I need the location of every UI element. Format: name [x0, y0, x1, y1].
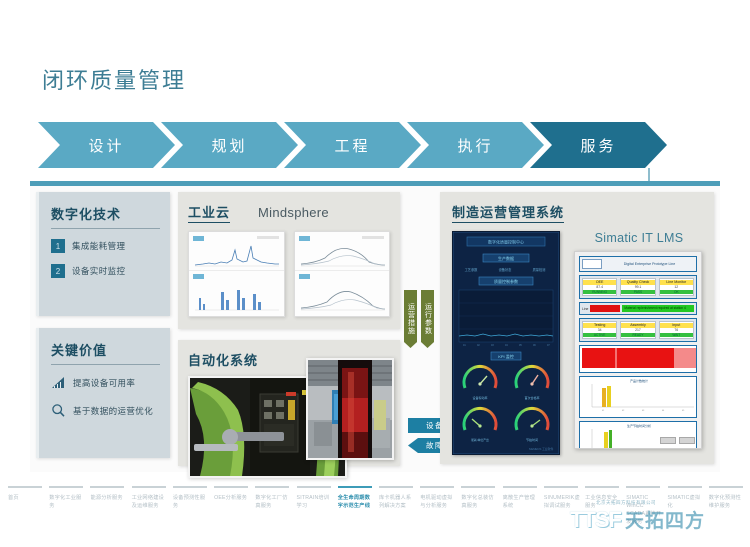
chevron-connector-stem [648, 168, 650, 182]
process-step-service[interactable]: 服务 [530, 122, 667, 168]
footer-label: OEE分析服务 [214, 494, 251, 502]
alarm-message: Material replenishment required at stati… [622, 305, 694, 312]
vertical-tag-operations[interactable]: 运营措施 [404, 290, 417, 348]
footer-label: SITRAIN培训学习 [297, 494, 334, 510]
footer-dash [255, 486, 289, 488]
footer-item-17[interactable]: 数字化预测性维护服务 [709, 486, 750, 526]
footer-item-7[interactable]: SITRAIN培训学习 [297, 486, 338, 526]
digital-technology-title: 数字化技术 [51, 204, 160, 229]
lms-button-right[interactable] [679, 437, 695, 444]
footer-dash [90, 486, 124, 488]
footer-label: 离散生产管理系统 [503, 494, 540, 510]
lms-kpi-row-1: OEE 87.4 RUNNING Quality Check 99.1 PASS [579, 275, 697, 299]
watermark-chinese: 天拓四方 [625, 506, 705, 533]
lms-alarm-row: Line Material replenishment required at … [579, 302, 697, 315]
footer-dash [8, 486, 42, 488]
process-step-label: 规划 [211, 135, 247, 156]
lms-kpi-testing[interactable]: Testing 34 ACTIVE [582, 321, 617, 339]
footer-item-9[interactable]: 库卡机器人系列解决方案 [379, 486, 420, 526]
svg-text:工艺参数: 工艺参数 [465, 267, 479, 272]
footer-dash [214, 486, 248, 488]
footer-item-5[interactable]: OEE分析服务 [214, 486, 255, 526]
lms-wrapper: Simatic IT LMS Digital Enterprise Protot… [574, 231, 704, 455]
kpi-status: PASS [621, 290, 654, 294]
footer-dash [297, 486, 331, 488]
footer-label: 数字化工业服务 [49, 494, 86, 510]
industrial-cloud-title: 工业云 [188, 202, 230, 223]
mindsphere-title: Mindsphere [258, 205, 329, 220]
footer-label: 能源分析服务 [90, 494, 127, 502]
lms-kpi-assembly[interactable]: Assembly 217 READY [620, 321, 655, 339]
footer-dash [668, 486, 702, 488]
footer-label: 数字化总装仿真服务 [461, 494, 498, 510]
kpi-status: READY [621, 333, 654, 337]
footer-label: 首页 [8, 494, 45, 502]
automation-system-card: 自动化系统 [178, 340, 400, 466]
footer-label: 设备预测性服务 [173, 494, 210, 510]
footer-dash [420, 486, 454, 488]
footer-dash [709, 486, 743, 488]
tech-item-2[interactable]: 2 设备实时监控 [51, 264, 160, 278]
watermark: TTSF 天拓四方 [570, 506, 705, 533]
footer-label: 数字化预测性维护服务 [709, 494, 746, 510]
svg-text:生产节拍时间分析: 生产节拍时间分析 [627, 423, 651, 428]
footer-item-3[interactable]: 工业网络建设及运维服务 [132, 486, 173, 526]
svg-text:质量检测: 质量检测 [533, 267, 546, 272]
value-item-label: 基于数据的运营优化 [73, 405, 153, 417]
footer-label: 工业网络建设及运维服务 [132, 494, 169, 510]
svg-text:生产数据: 生产数据 [498, 255, 514, 261]
tech-item-number: 1 [51, 239, 65, 253]
lms-button-left[interactable] [660, 437, 676, 444]
scada-dashboard[interactable]: 数字化质量控制中心 生产数据 工艺参数 设备状态 质量检测 质量控制参数 [452, 231, 560, 455]
process-step-planning[interactable]: 规划 [161, 122, 298, 168]
key-value-card: 关键价值 提高设备可用率 [36, 328, 170, 458]
kpi-status: RUNNING [583, 290, 616, 294]
footer-item-11[interactable]: 数字化总装仿真服务 [461, 486, 502, 526]
footer-dash [544, 486, 578, 488]
page-title: 闭环质量管理 [42, 63, 186, 95]
siemens-logo-chip [582, 259, 602, 269]
footer-item-4[interactable]: 设备预测性服务 [173, 486, 214, 526]
tech-item-label: 设备实时监控 [72, 265, 125, 277]
cloud-screenshots [188, 231, 390, 317]
production-count-chart[interactable]: 产品计数统计 010203 0405 [579, 376, 697, 418]
kpi-status: WAIT [660, 333, 693, 337]
footer-dash [173, 486, 207, 488]
kpi-status: ACTIVE [583, 333, 616, 337]
alarm-label: Line [582, 307, 588, 311]
svg-text:设备稼动率: 设备稼动率 [472, 395, 487, 400]
svg-text:首次合格率: 首次合格率 [524, 395, 539, 400]
industrial-cloud-dashboard-thumb[interactable] [188, 231, 285, 317]
process-step-engineering[interactable]: 工程 [284, 122, 421, 168]
lms-header-bar: Digital Enterprise Prototype Line [579, 256, 697, 272]
footer-item-10[interactable]: 电机驱动虚拟与分析服务 [420, 486, 461, 526]
tech-item-label: 集成能耗管理 [72, 240, 125, 252]
dashboard-logo-chip-2 [299, 274, 310, 279]
footer-dash [49, 486, 83, 488]
kpi-status: OK [660, 290, 693, 294]
process-chevron-bar: 设计 规划 工程 执行 服务 [38, 122, 653, 168]
digital-technology-card: 数字化技术 1 集成能耗管理 2 设备实时监控 [36, 192, 170, 316]
svg-text:能耗/单位产出: 能耗/单位产出 [471, 438, 489, 442]
lms-footer-controls [660, 437, 695, 444]
footer-dash [461, 486, 495, 488]
svg-text:节拍时间: 节拍时间 [526, 437, 538, 442]
footer-label: 库卡机器人系列解决方案 [379, 494, 416, 510]
svg-text:产品计数统计: 产品计数统计 [630, 378, 648, 383]
mes-card: 制造运营管理系统 数字化质量控制中心 [440, 192, 714, 464]
mindsphere-dashboard-thumb[interactable] [294, 231, 391, 317]
slide-canvas: 闭环质量管理 设计 规划 工程 执行 服务 数字化技术 1 集成能耗管理 2 设… [0, 0, 750, 547]
process-step-label: 工程 [334, 135, 370, 156]
svg-text:KPI 监控: KPI 监控 [498, 353, 514, 359]
footer-dash [338, 486, 372, 488]
process-step-label: 服务 [580, 135, 616, 156]
process-step-execution[interactable]: 执行 [407, 122, 544, 168]
footer-dash [626, 486, 660, 488]
alarm-red-block [590, 305, 620, 312]
process-step-design[interactable]: 设计 [38, 122, 175, 168]
footer-label: 电机驱动虚拟与分析服务 [420, 494, 457, 510]
lms-kpi-line-monitor[interactable]: Line Monitor 12 OK [659, 278, 694, 296]
vertical-tag-parameters[interactable]: 运行参数 [421, 290, 434, 348]
process-step-label: 设计 [88, 135, 124, 156]
footer-item-2[interactable]: 能源分析服务 [90, 486, 131, 526]
watermark-latin: TTSF [570, 507, 621, 533]
svg-text:数字化质量控制中心: 数字化质量控制中心 [488, 239, 524, 245]
value-item-label: 提高设备可用率 [73, 377, 135, 389]
tech-item-number: 2 [51, 264, 65, 278]
footer-label: 数字化工厂仿真服务 [255, 494, 292, 510]
mes-header: 制造运营管理系统 [452, 202, 704, 223]
lms-dashboard[interactable]: Digital Enterprise Prototype Line OEE 87… [574, 251, 702, 449]
lms-kpi-row-2: Testing 34 ACTIVE Assembly 217 READY [579, 318, 697, 342]
vertical-connector-tags: 运营措施 运行参数 [404, 290, 434, 348]
mes-body: 数字化质量控制中心 生产数据 工艺参数 设备状态 质量检测 质量控制参数 [452, 231, 704, 455]
footer-item-12[interactable]: 离散生产管理系统 [503, 486, 544, 526]
lms-header-title: Digital Enterprise Prototype Line [605, 262, 694, 266]
right-column: 制造运营管理系统 数字化质量控制中心 [440, 192, 714, 464]
svg-text:质量控制参数: 质量控制参数 [494, 278, 518, 284]
footer-dash [503, 486, 537, 488]
value-item-optimization[interactable]: 基于数据的运营优化 [51, 403, 160, 418]
footer-dash [132, 486, 166, 488]
dashboard-logo-chip-2 [193, 274, 204, 279]
svg-text:SIEMENS 工业软件: SIEMENS 工业软件 [529, 447, 554, 451]
footer-dash [379, 486, 413, 488]
footer-item-1[interactable]: 数字化工业服务 [49, 486, 90, 526]
process-step-label: 执行 [457, 135, 493, 156]
footer-item-8[interactable]: 全生命周期数字示范生产线 [338, 486, 379, 526]
industrial-cloud-header: 工业云 Mindsphere [188, 202, 390, 223]
footer-item-0[interactable]: 首页 [8, 486, 49, 526]
lms-kpi-quality-check[interactable]: Quality Check 99.1 PASS [620, 278, 655, 296]
lms-kpi-oee[interactable]: OEE 87.4 RUNNING [582, 278, 617, 296]
bar-chart-icon [51, 375, 66, 390]
lms-title: Simatic IT LMS [574, 231, 704, 245]
mes-title: 制造运营管理系统 [452, 202, 564, 223]
svg-text:设备状态: 设备状态 [499, 267, 513, 272]
tech-item-1[interactable]: 1 集成能耗管理 [51, 239, 160, 253]
middle-column: 工业云 Mindsphere [178, 192, 400, 466]
footer-item-6[interactable]: 数字化工厂仿真服务 [255, 486, 296, 526]
left-column: 数字化技术 1 集成能耗管理 2 设备实时监控 关键价值 [36, 192, 170, 458]
stack-light-photo[interactable] [306, 358, 394, 460]
cycle-time-chart[interactable]: 生产节拍时间分析 010203 0405 [579, 421, 697, 449]
lms-kpi-input[interactable]: Input 76 WAIT [659, 321, 694, 339]
industrial-cloud-card: 工业云 Mindsphere [178, 192, 400, 329]
magnifier-icon [51, 403, 66, 418]
value-item-availability[interactable]: 提高设备可用率 [51, 375, 160, 390]
alarm-trend-chart[interactable] [579, 345, 697, 373]
footer-dash [585, 486, 619, 488]
automation-photos [188, 376, 390, 476]
key-value-title: 关键价值 [51, 340, 160, 365]
footer-label: 全生命周期数字示范生产线 [338, 494, 375, 510]
